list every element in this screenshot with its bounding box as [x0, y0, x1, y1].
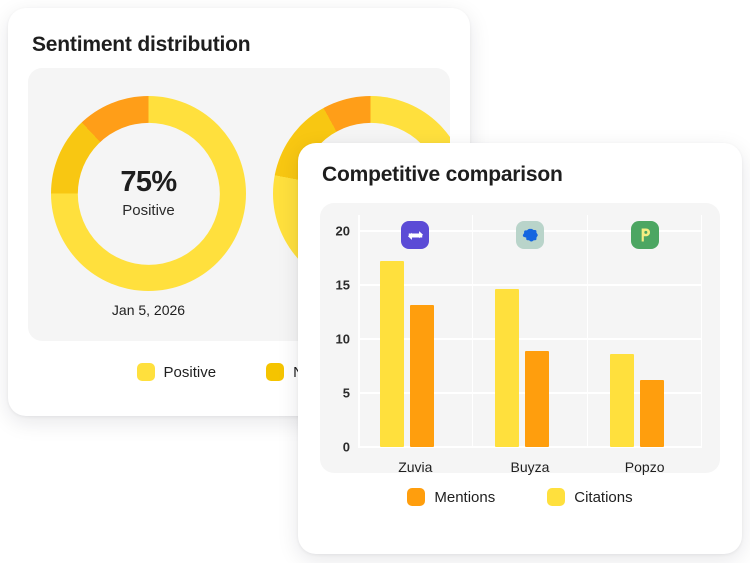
sentiment-card-title: Sentiment distribution [32, 33, 250, 57]
bar-buyza-mentions[interactable] [525, 351, 549, 447]
bar-chart-plot-area[interactable]: 05101520ZuviaBuyzaPopzo [358, 215, 702, 447]
legend-item-mentions[interactable]: Mentions [407, 488, 495, 506]
screenshot-stage: Sentiment distribution 75% Positive Jan … [0, 0, 750, 563]
gridline-vertical [472, 215, 474, 447]
y-axis-tick-label: 10 [336, 332, 350, 347]
legend-swatch-icon [266, 363, 284, 381]
bar-zuvia-mentions[interactable] [410, 305, 434, 447]
legend-item-citations[interactable]: Citations [547, 488, 632, 506]
competitive-legend: Mentions Citations [320, 488, 720, 506]
gridline-horizontal [358, 284, 702, 286]
competitive-chart-panel: 05101520ZuviaBuyzaPopzo [320, 203, 720, 473]
legend-label: Mentions [434, 489, 495, 506]
competitive-comparison-card: Competitive comparison 05101520ZuviaBuyz… [298, 143, 742, 554]
gridline-vertical [701, 215, 703, 447]
gridline-vertical [587, 215, 589, 447]
swap-arrows-icon[interactable] [401, 221, 429, 249]
legend-swatch-icon [137, 363, 155, 381]
y-axis-tick-label: 15 [336, 278, 350, 293]
legend-item-positive[interactable]: Positive [137, 363, 217, 381]
legend-swatch-icon [547, 488, 565, 506]
donut-chart-primary[interactable]: 75% Positive [51, 96, 246, 291]
y-axis-tick-label: 20 [336, 224, 350, 239]
legend-swatch-icon [407, 488, 425, 506]
donut-center: 75% Positive [77, 122, 219, 264]
blob-flower-icon[interactable] [516, 221, 544, 249]
legend-label: Positive [164, 364, 217, 381]
letter-p-icon[interactable] [631, 221, 659, 249]
x-axis-label-popzo: Popzo [625, 459, 665, 475]
sentiment-date-label: Jan 5, 2026 [28, 302, 269, 318]
y-axis-tick-label: 5 [343, 386, 350, 401]
y-axis-tick-label: 0 [343, 440, 350, 455]
donut-percent-value: 75% [120, 168, 176, 197]
gridline-vertical [358, 215, 360, 447]
legend-label: Citations [574, 489, 632, 506]
bar-zuvia-citations[interactable] [380, 261, 404, 447]
competitive-card-title: Competitive comparison [322, 163, 563, 187]
bar-buyza-citations[interactable] [495, 289, 519, 447]
bar-popzo-mentions[interactable] [640, 380, 664, 447]
x-axis-label-zuvia: Zuvia [398, 459, 432, 475]
donut-percent-label: Positive [122, 202, 175, 219]
bar-popzo-citations[interactable] [610, 354, 634, 447]
x-axis-label-buyza: Buyza [511, 459, 550, 475]
